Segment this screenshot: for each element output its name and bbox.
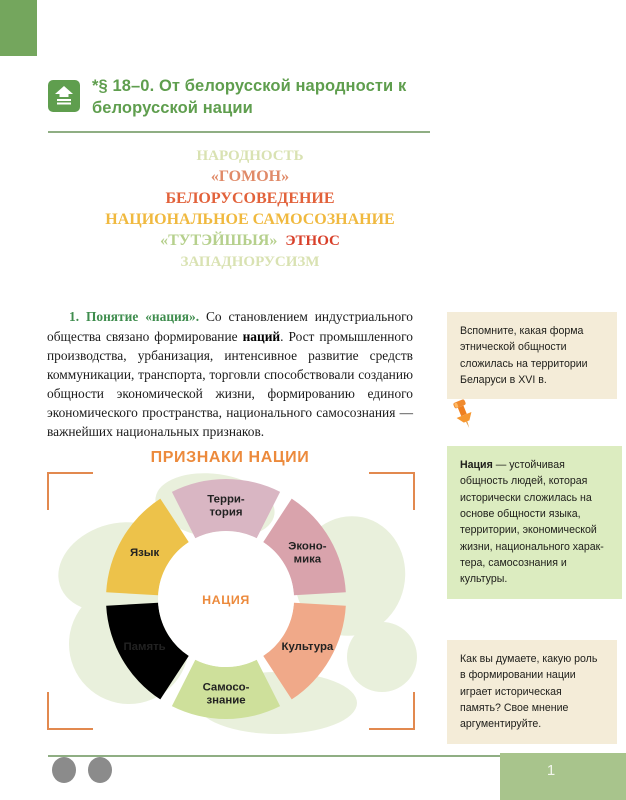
donut-segment-label: Терри-тория <box>207 494 245 519</box>
note-discussion-question: Как вы думаете, какую роль в формировани… <box>447 640 617 744</box>
body-bold-word: наций <box>243 329 281 344</box>
keyword-item: «ТУТЭЙШЫЯ» <box>160 232 277 249</box>
keyword-item: ЗАПАДНОРУСИЗМ <box>40 252 460 272</box>
keyword-item: «ГОМОН» <box>40 166 460 187</box>
note-recall-question: Вспомните, какая форма этнической общ­но… <box>447 312 617 399</box>
definition-text: — устойчивая общность людей, которая ист… <box>460 459 604 585</box>
definition-term: Нация <box>460 459 493 471</box>
donut-segment-label: Самосо-знание <box>203 682 250 707</box>
body-text-part-2: . Рост промышленного производства, урбан… <box>47 329 413 440</box>
keyword-row: «ТУТЭЙШЫЯ» ЭТНОС <box>40 230 460 251</box>
header-divider <box>48 131 430 133</box>
background-blob <box>347 622 417 692</box>
keyword-item: БЕЛОРУСОВЕДЕНИЕ <box>40 188 460 209</box>
keyword-item: НАЦИОНАЛЬНОЕ САМОСОЗНАНИЕ <box>40 209 460 230</box>
note-text: Как вы думаете, какую роль в формировани… <box>460 653 597 730</box>
keyword-item: НАРОДНОСТЬ <box>40 146 460 166</box>
footer-dot <box>88 757 112 783</box>
donut-chart: ЯзыкТерри-торияЭконо-микаКультураСамосо-… <box>103 476 349 722</box>
page-number: 1 <box>536 762 566 779</box>
corner-bracket-top-right <box>367 472 415 512</box>
textbook-page: *§ 18–0. От белорусской народности к бел… <box>0 0 626 800</box>
note-text: Вспомните, какая форма этнической общ­но… <box>460 325 588 386</box>
donut-segment-label: Культура <box>282 641 334 653</box>
diagram-title: ПРИЗНАКИ НАЦИИ <box>47 449 413 467</box>
nation-features-diagram: ЯзыкТерри-торияЭконо-микаКультураСамосо-… <box>47 472 415 730</box>
page-header: *§ 18–0. От белорусской народности к бел… <box>48 76 448 120</box>
donut-segment-label: Язык <box>130 547 160 559</box>
page-title: *§ 18–0. От белорусской народности к бел… <box>92 76 448 120</box>
note-definition-nation: Нация — устойчивая общность людей, котор… <box>447 446 622 599</box>
donut-segment-label: Эконо-мика <box>288 541 326 566</box>
corner-bracket-top-left <box>47 472 95 512</box>
corner-bracket-bottom-right <box>367 690 415 730</box>
donut-segment-label: Память <box>124 641 166 653</box>
keyword-cloud: НАРОДНОСТЬ «ГОМОН» БЕЛОРУСОВЕДЕНИЕ НАЦИО… <box>40 146 460 272</box>
section-lead-in: 1. Понятие «нация». <box>69 309 199 324</box>
book-up-arrow-icon <box>48 80 80 112</box>
body-paragraph: 1. Понятие «нация». Со становлением инду… <box>47 307 413 441</box>
corner-bracket-bottom-left <box>47 690 95 730</box>
footer-dot <box>52 757 76 783</box>
corner-decoration-block <box>0 0 37 56</box>
keyword-item: ЭТНОС <box>285 233 340 249</box>
pushpin-icon <box>449 398 479 432</box>
donut-center-label: НАЦИЯ <box>202 593 250 607</box>
